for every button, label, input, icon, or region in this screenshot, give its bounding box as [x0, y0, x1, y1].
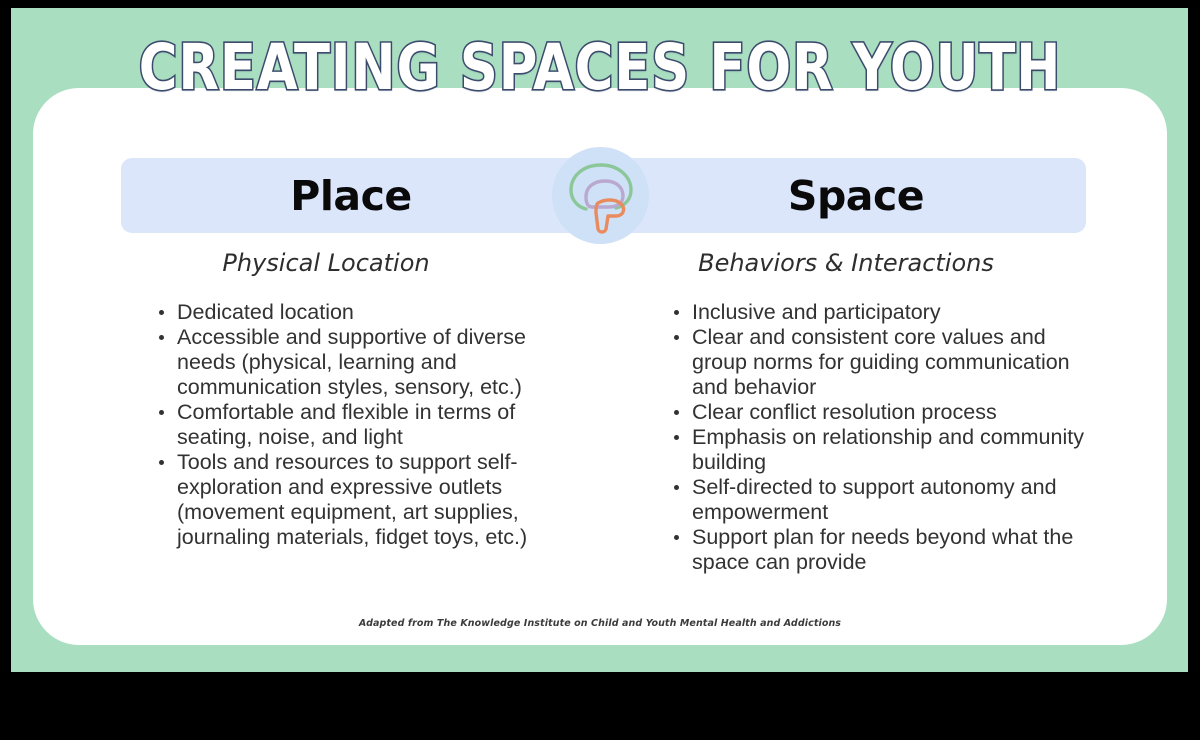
list-item: Accessible and supportive of diverse nee…: [155, 325, 570, 400]
list-item: Clear conflict resolution process: [670, 400, 1088, 425]
bullet-list-place: Dedicated location Accessible and suppor…: [140, 300, 570, 550]
list-item: Dedicated location: [155, 300, 570, 325]
source-attribution: Adapted from The Knowledge Institute on …: [0, 618, 1200, 629]
brain-icon: [552, 147, 649, 244]
column-space: Behaviors & Interactions Inclusive and p…: [648, 248, 1088, 575]
list-item: Support plan for needs beyond what the s…: [670, 525, 1088, 575]
list-item: Self-directed to support autonomy and em…: [670, 475, 1088, 525]
column-subtitle-place: Physical Location: [140, 248, 570, 278]
column-subtitle-space: Behaviors & Interactions: [648, 248, 1088, 278]
list-item: Inclusive and participatory: [670, 300, 1088, 325]
list-item: Tools and resources to support self-expl…: [155, 450, 570, 550]
bullet-list-space: Inclusive and participatory Clear and co…: [648, 300, 1088, 575]
list-item: Comfortable and flexible in terms of sea…: [155, 400, 570, 450]
column-heading-place: Place: [121, 158, 581, 233]
list-item: Clear and consistent core values and gro…: [670, 325, 1088, 400]
column-heading-space: Space: [626, 158, 1086, 233]
slide-frame: Creating Spaces for Youth Place Space Ph…: [0, 0, 1200, 740]
list-item: Emphasis on relationship and community b…: [670, 425, 1088, 475]
column-place: Physical Location Dedicated location Acc…: [140, 248, 570, 550]
